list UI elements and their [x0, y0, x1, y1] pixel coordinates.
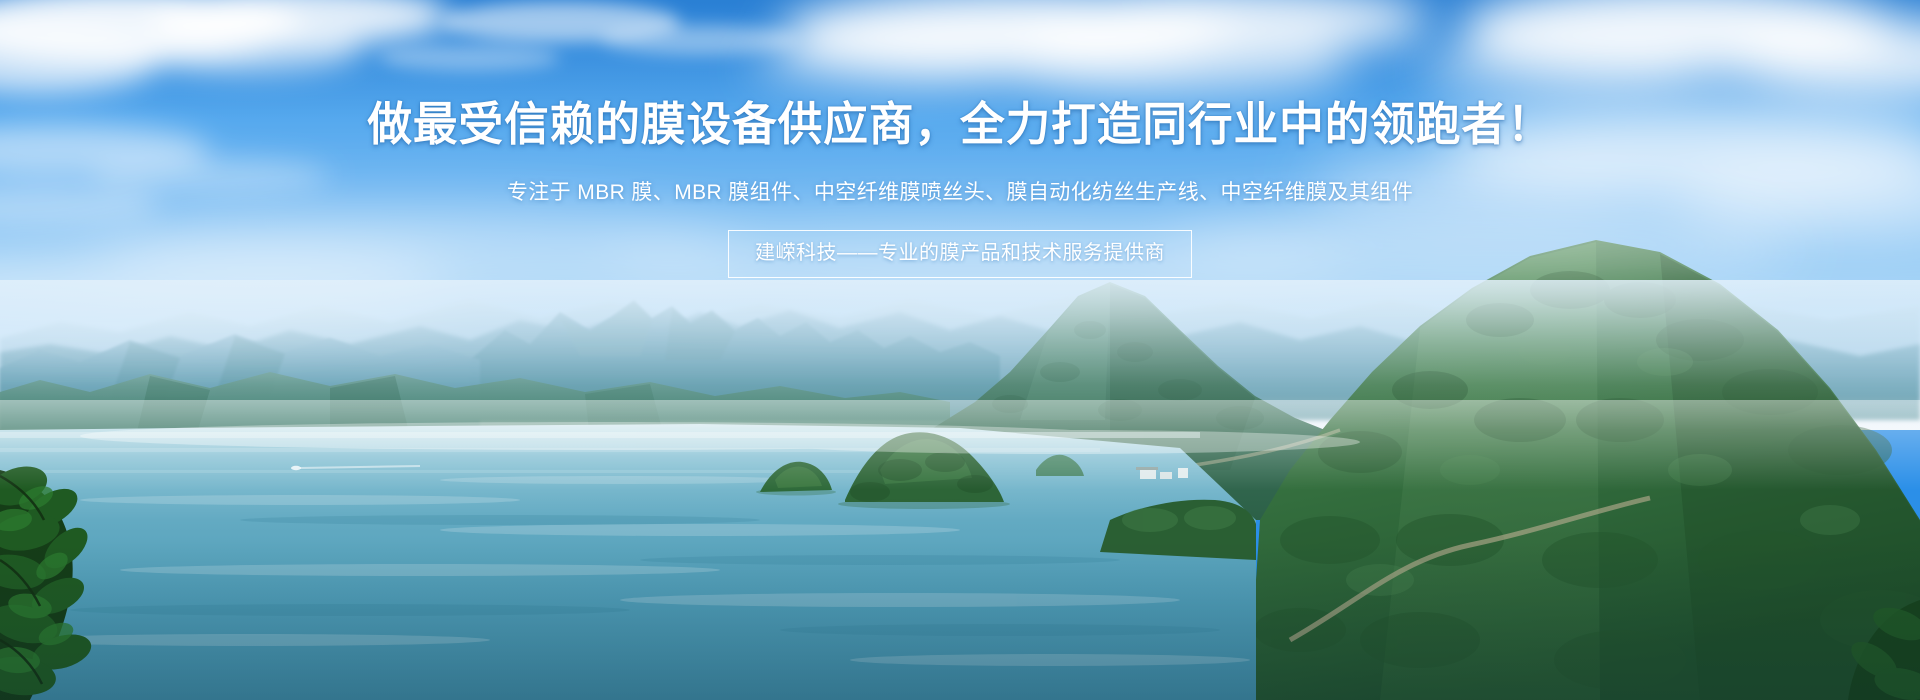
banner-tagline-box: 建嵘科技——专业的膜产品和技术服务提供商: [728, 230, 1192, 278]
cloud-center-right: [750, 0, 1430, 96]
clouds-layer: [0, 0, 1920, 440]
banner-subheadline: 专注于 MBR 膜、MBR 膜组件、中空纤维膜喷丝头、膜自动化纺丝生产线、中空纤…: [507, 178, 1413, 208]
cloud-left-mid: [0, 124, 330, 225]
cloud-top-right: [1420, 0, 1920, 98]
cloud-top-left: [0, 0, 450, 94]
boat: [291, 466, 301, 470]
banner-headline: 做最受信赖的膜设备供应商，全力打造同行业中的领跑者！: [367, 96, 1552, 152]
hero-banner: 做最受信赖的膜设备供应商，全力打造同行业中的领跑者！ 专注于 MBR 膜、MBR…: [0, 0, 1920, 700]
